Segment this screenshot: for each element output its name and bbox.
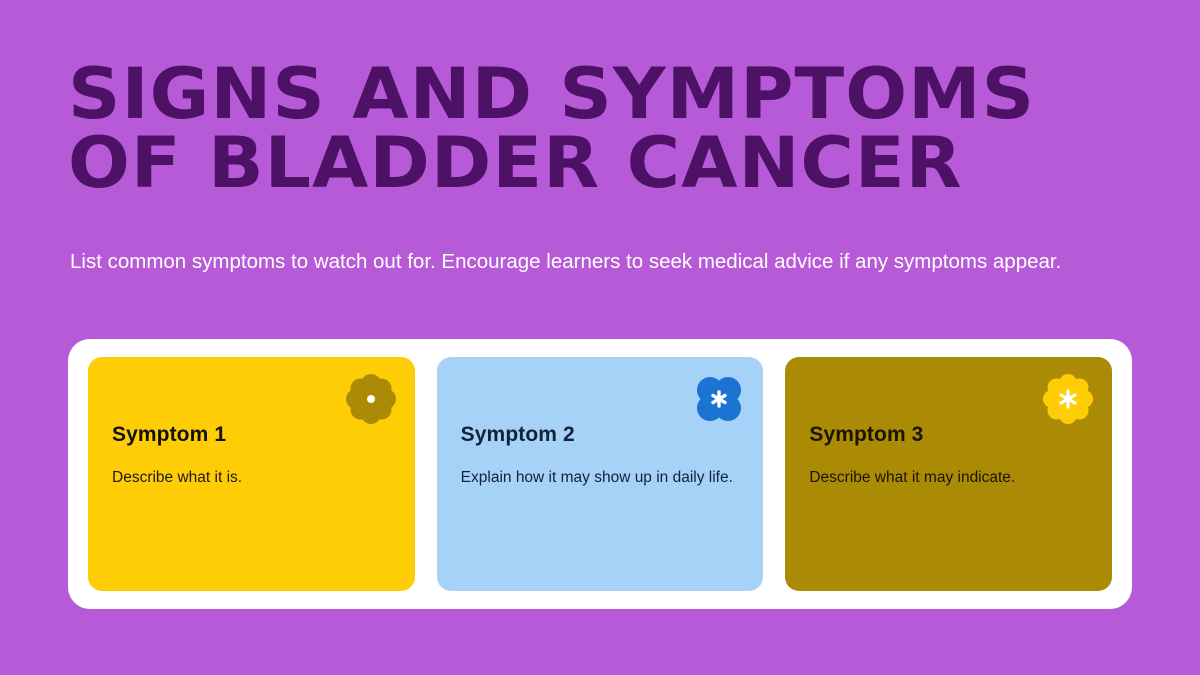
- symptom-card-2-body: Explain how it may show up in daily life…: [461, 467, 740, 489]
- symptom-card-1[interactable]: Symptom 1 Describe what it is.: [88, 357, 415, 591]
- flower-icon: [343, 371, 399, 427]
- symptom-card-3-body: Describe what it may indicate.: [809, 467, 1088, 489]
- symptom-card-1-body: Describe what it is.: [112, 467, 391, 489]
- symptom-cards-panel: Symptom 1 Describe what it is. Symptom 2…: [68, 339, 1132, 609]
- clover-icon: [691, 371, 747, 427]
- slide-subtitle: List common symptoms to watch out for. E…: [70, 247, 1080, 276]
- symptom-card-3[interactable]: Symptom 3 Describe what it may indicate.: [785, 357, 1112, 591]
- slide: SIGNS AND SYMPTOMS OF BLADDER CANCER Lis…: [0, 0, 1200, 675]
- page-title: SIGNS AND SYMPTOMS OF BLADDER CANCER: [68, 60, 1181, 199]
- flower-burst-icon: [1040, 371, 1096, 427]
- title-block: SIGNS AND SYMPTOMS OF BLADDER CANCER: [68, 60, 1138, 199]
- symptom-card-2[interactable]: Symptom 2 Explain how it may show up in …: [437, 357, 764, 591]
